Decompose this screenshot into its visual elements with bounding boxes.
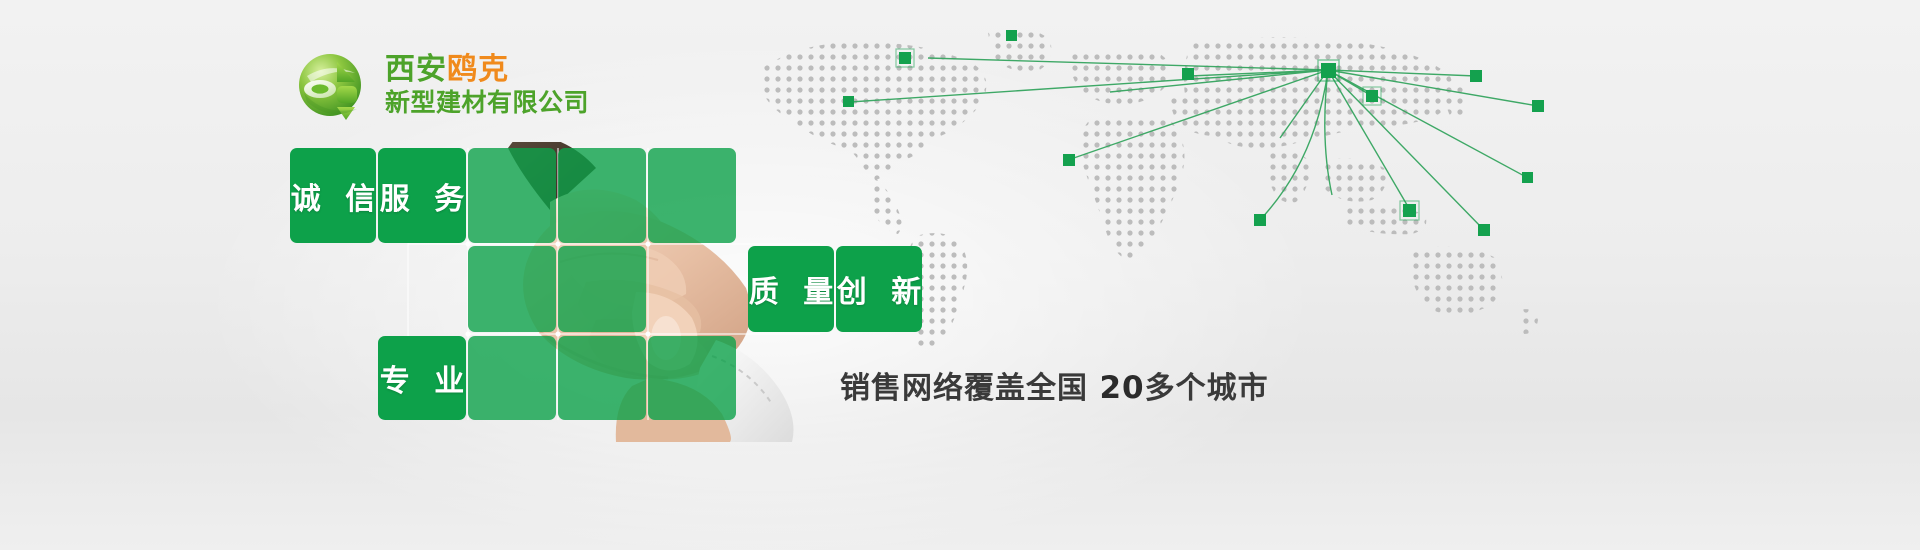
- tile-chuangxin[interactable]: 创 新: [836, 246, 922, 332]
- tile-fuwu[interactable]: 服 务: [378, 148, 466, 243]
- tile-label: 创 新: [836, 246, 922, 332]
- tagline-suffix: 多个城市: [1145, 371, 1269, 406]
- tagline-highlight: 20: [1099, 370, 1144, 406]
- tile-r1c2[interactable]: [468, 246, 556, 332]
- tile-r0c4[interactable]: [648, 148, 736, 243]
- tile-label: 诚 信: [290, 148, 376, 243]
- tile-r0c2[interactable]: [468, 148, 556, 243]
- tile-r1c3[interactable]: [558, 246, 646, 332]
- tile-label: 质 量: [748, 246, 834, 332]
- tile-r2c4[interactable]: [648, 336, 736, 420]
- tile-label: 服 务: [378, 148, 466, 243]
- logo-text: 西安鸥克 新型建材有限公司: [385, 54, 589, 116]
- logo-title: 西安鸥克: [385, 54, 589, 86]
- tile-label: 专 业: [378, 336, 466, 420]
- sales-network-tagline: 销售网络覆盖全国 20多个城市: [840, 363, 1269, 407]
- value-tile-mosaic: 诚 信 服 务 质 量 创 新 专 业: [290, 148, 820, 420]
- green-globe-leaf-logo-icon: [293, 46, 371, 124]
- tagline-prefix: 销售网络覆盖全国: [840, 371, 1088, 406]
- tile-r2c2[interactable]: [468, 336, 556, 420]
- tile-zhiliang[interactable]: 质 量: [748, 246, 834, 332]
- logo-city: 西安: [385, 52, 447, 87]
- promo-banner: 西安鸥克 新型建材有限公司: [0, 0, 1920, 550]
- tile-chengxin[interactable]: 诚 信: [290, 148, 376, 243]
- company-logo[interactable]: 西安鸥克 新型建材有限公司: [293, 46, 589, 124]
- logo-brand: 鸥克: [447, 52, 509, 87]
- tile-zhuanye[interactable]: 专 业: [378, 336, 466, 420]
- tile-r2c3[interactable]: [558, 336, 646, 420]
- logo-subtitle: 新型建材有限公司: [385, 90, 589, 116]
- tile-r0c3[interactable]: [558, 148, 646, 243]
- network-hub-marker: [1318, 60, 1339, 81]
